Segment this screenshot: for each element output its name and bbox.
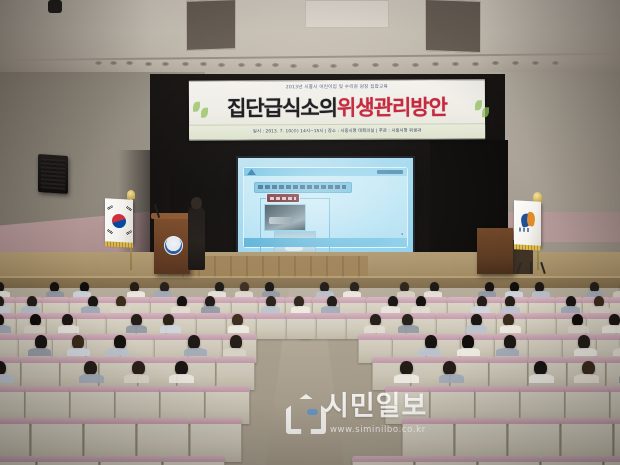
audience-member-torso (466, 325, 487, 333)
audience-member-torso (381, 306, 400, 313)
auditorium-seat (0, 457, 36, 465)
audience-member-head (425, 335, 437, 348)
audience-member-torso (28, 348, 51, 356)
downlight-icon (218, 63, 225, 67)
lectern-emblem-icon (164, 236, 183, 255)
audience-member-torso (568, 325, 589, 333)
auditorium-seat (478, 457, 540, 465)
audience-member-torso (106, 348, 129, 356)
downlight-icon (552, 61, 559, 65)
audience-member-torso (591, 306, 610, 313)
audience-member-torso (223, 348, 246, 356)
downlight-icon (238, 63, 245, 67)
audience-member-torso (160, 325, 181, 333)
watermark: 시민일보 www.siminilbo.co.kr (286, 392, 456, 440)
auditorium-seat (286, 314, 317, 339)
banner-title-red: 위생관리방안 (337, 95, 447, 120)
audience-member-head (188, 335, 200, 348)
projection-screen: 4 (238, 158, 413, 260)
audience-member-head (462, 335, 474, 348)
downlight-icon (330, 64, 337, 68)
trigram-icon (126, 230, 132, 235)
stage-edge-highlight (0, 276, 620, 278)
ceiling-vent (425, 0, 481, 53)
audience-member-torso (457, 348, 480, 356)
auditorium-seat (37, 457, 99, 465)
speaker-grill (41, 158, 65, 190)
trigram-icon (107, 205, 113, 210)
ceiling-vent (186, 0, 236, 51)
audience-member-torso (0, 325, 11, 333)
audience-member-torso (321, 306, 340, 313)
audience-member-torso (471, 306, 490, 313)
audience-member-head (504, 335, 516, 348)
wall-loudspeaker-icon (38, 154, 68, 194)
watermark-text: 시민일보 (324, 390, 427, 424)
audience-member-torso (124, 374, 149, 383)
downlight-icon (126, 61, 133, 65)
korean-flag (105, 198, 133, 243)
downlight-icon (145, 62, 152, 66)
banner-info-row: 일시 : 2013. 7. 10(수) 14시~15시 | 장소 : 시흥시청 … (189, 123, 485, 139)
watermark-url: www.siminilbo.co.kr (330, 425, 426, 435)
audience-member-torso (364, 325, 385, 333)
audience-member-head (230, 335, 242, 348)
audience-member-torso (291, 306, 310, 313)
audience-member-torso (613, 348, 620, 356)
audience-member-torso (67, 348, 90, 356)
audience-member-torso (0, 306, 10, 313)
korean-flag-finial-icon (127, 190, 135, 199)
trigram-icon (126, 206, 132, 211)
ceiling-camera-icon (48, 0, 62, 13)
downlight-icon (352, 63, 359, 67)
audience-member-head (35, 335, 47, 348)
audience-member-torso (398, 325, 419, 333)
auditorium-seat (256, 314, 287, 339)
banner-title-row: 집단급식소의위생관리방안 (189, 91, 485, 123)
downlight-icon (392, 63, 399, 67)
audience-member-torso (21, 306, 40, 313)
presenter-head (191, 197, 202, 209)
audience-member-torso (81, 306, 100, 313)
auditorium-seat (541, 457, 603, 465)
audience-member-torso (261, 306, 280, 313)
downlight-icon (110, 61, 117, 65)
downlight-icon (412, 63, 419, 67)
downlight-icon (255, 63, 262, 67)
ceiling-panel-white (305, 0, 389, 28)
audience-member-torso (169, 374, 194, 383)
audience-member-torso (201, 306, 220, 313)
audience-member-torso (171, 306, 190, 313)
downlight-icon (372, 63, 379, 67)
trigram-icon (107, 229, 113, 234)
audience-member-torso (126, 325, 147, 333)
downlight-icon (200, 62, 207, 66)
audience-member-torso (411, 306, 430, 313)
city-emblem-orange-icon (526, 211, 536, 226)
siminilbo-logo-icon (286, 394, 326, 434)
downlight-icon (432, 62, 439, 66)
audience-member-head (578, 335, 590, 348)
downlight-icon (452, 62, 459, 66)
screen-glare (238, 158, 413, 260)
audience-member-torso (496, 348, 519, 356)
audience-member-torso (79, 374, 104, 383)
photo-canvas: 2013년 시흥시 어린이집 및 수리원 원장 집합교육 집단급식소의위생관리방… (0, 0, 620, 465)
audience-member-torso (561, 306, 580, 313)
downlight-icon (532, 61, 539, 65)
stand-leg (530, 262, 532, 274)
auditorium-seat (316, 314, 347, 339)
ceiling-downlights (0, 58, 620, 68)
audience-member-head (114, 335, 126, 348)
audience-member-torso (418, 348, 441, 356)
auditorium-seat (100, 457, 162, 465)
downlight-icon (182, 62, 189, 66)
presenter (188, 206, 205, 270)
audience-member-torso (529, 374, 554, 383)
banner-title-black: 집단급식소의 (227, 96, 337, 121)
downlight-icon (472, 62, 479, 66)
auditorium-seat (604, 457, 620, 465)
downlight-icon (290, 64, 297, 68)
downlight-icon (95, 61, 102, 65)
city-flag (514, 200, 541, 246)
audience-member-torso (574, 348, 597, 356)
audience-member-torso (0, 374, 14, 383)
lectern (154, 216, 190, 274)
event-banner: 2013년 시흥시 어린이집 및 수리원 원장 집합교육 집단급식소의위생관리방… (189, 79, 485, 141)
downlight-icon (312, 64, 319, 68)
downlight-icon (162, 62, 169, 66)
auditorium-seat (163, 457, 225, 465)
auditorium-seat (415, 457, 477, 465)
audience-member-torso (501, 306, 520, 313)
downlight-icon (272, 63, 279, 67)
audience-member-torso (500, 325, 521, 333)
downlight-icon (512, 61, 519, 65)
audience-member-head (72, 335, 84, 348)
audience-member-torso (394, 374, 419, 383)
audience-member-torso (184, 348, 207, 356)
projection-screen-frame: 4 (236, 156, 415, 262)
city-emblem-text (519, 228, 531, 233)
audience-member-torso (58, 325, 79, 333)
downlight-icon (492, 61, 499, 65)
audience-member-torso (574, 374, 599, 383)
audience-member-torso (24, 325, 45, 333)
audience-member-torso (228, 325, 249, 333)
taeguk-icon (112, 214, 126, 229)
auditorium-seat (352, 457, 414, 465)
audience-member-torso (439, 374, 464, 383)
city-flag-stand (518, 262, 544, 274)
audience-member-torso (602, 325, 620, 333)
side-table (477, 228, 513, 274)
audience-member-torso (111, 306, 130, 313)
banner-info-text: 일시 : 2013. 7. 10(수) 14시~15시 | 장소 : 시흥시청 … (189, 124, 485, 139)
